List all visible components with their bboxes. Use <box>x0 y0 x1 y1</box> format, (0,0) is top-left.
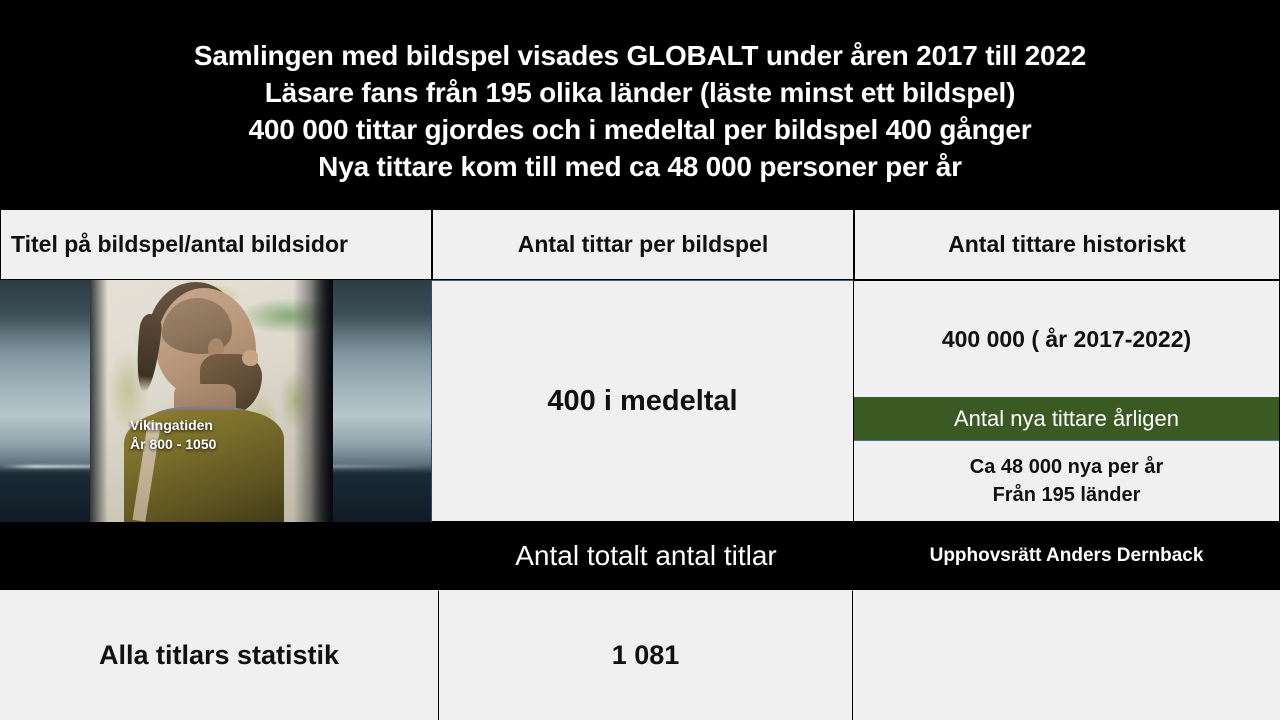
annual-viewers-band: Antal nya tittare årligen <box>854 397 1279 441</box>
title-line-2: Läsare fans från 195 olika länder (läste… <box>265 74 1015 111</box>
copyright-cell: Upphovsrätt Anders Dernback <box>853 522 1280 590</box>
column-header-historic-views-label: Antal tittare historiskt <box>948 231 1186 258</box>
column-header-title: Titel på bildspel/antal bildsidor <box>0 209 432 280</box>
copyright-label: Upphovsrätt Anders Dernback <box>930 545 1204 567</box>
title-line-1: Samlingen med bildspel visades GLOBALT u… <box>194 37 1086 74</box>
annual-viewers-band-label: Antal nya tittare årligen <box>954 406 1179 432</box>
table-body-row: Vikingatiden År 800 - 1050 400 i medelta… <box>0 280 1280 522</box>
column-header-views-per-show-label: Antal tittar per bildspel <box>518 231 768 258</box>
photo-shadow-right <box>293 280 333 522</box>
viking-photo-caption: Vikingatiden År 800 - 1050 <box>130 416 216 454</box>
historic-views-cell: 400 000 ( år 2017-2022) Antal nya tittar… <box>854 280 1280 522</box>
viking-nose <box>242 350 258 366</box>
total-titles-label-cell: Antal totalt antal titlar <box>439 522 853 590</box>
average-views-cell: 400 i medeltal <box>432 280 854 522</box>
caption-line-1: Vikingatiden <box>130 416 216 435</box>
slide-canvas: Samlingen med bildspel visades GLOBALT u… <box>0 0 1280 720</box>
historic-total-value: 400 000 ( år 2017-2022) <box>942 326 1191 353</box>
table-header-row: Titel på bildspel/antal bildsidor Antal … <box>0 209 1280 280</box>
viking-photo-canvas <box>90 280 333 522</box>
title-line-4: Nya tittare kom till med ca 48 000 perso… <box>318 148 962 185</box>
all-titles-stats-label: Alla titlars statistik <box>99 640 339 671</box>
total-titles-value: 1 081 <box>612 640 680 671</box>
average-views-value: 400 i medeltal <box>547 385 737 418</box>
photo-vignette-left <box>90 280 108 522</box>
viking-image-cell: Vikingatiden År 800 - 1050 <box>0 280 432 522</box>
separator-band: Antal totalt antal titlar Upphovsrätt An… <box>0 522 1280 590</box>
total-titles-label: Antal totalt antal titlar <box>515 540 776 572</box>
column-header-title-label: Titel på bildspel/antal bildsidor <box>11 231 348 258</box>
column-header-views-per-show: Antal tittar per bildspel <box>432 209 854 280</box>
title-block: Samlingen med bildspel visades GLOBALT u… <box>0 0 1280 208</box>
footer-empty-cell <box>853 590 1280 720</box>
annual-detail-subcell: Ca 48 000 nya per år Från 195 länder <box>854 441 1279 521</box>
viking-photo: Vikingatiden År 800 - 1050 <box>90 280 333 522</box>
annual-detail-line-2: Från 195 länder <box>993 481 1141 509</box>
column-header-historic-views: Antal tittare historiskt <box>854 209 1280 280</box>
all-titles-stats-cell: Alla titlars statistik <box>0 590 439 720</box>
total-titles-value-cell: 1 081 <box>439 590 853 720</box>
historic-total-subcell: 400 000 ( år 2017-2022) <box>854 281 1279 397</box>
annual-detail-line-1: Ca 48 000 nya per år <box>970 453 1163 481</box>
title-line-3: 400 000 tittar gjordes och i medeltal pe… <box>249 111 1032 148</box>
table-footer-row: Alla titlars statistik 1 081 <box>0 590 1280 720</box>
caption-line-2: År 800 - 1050 <box>130 435 216 454</box>
